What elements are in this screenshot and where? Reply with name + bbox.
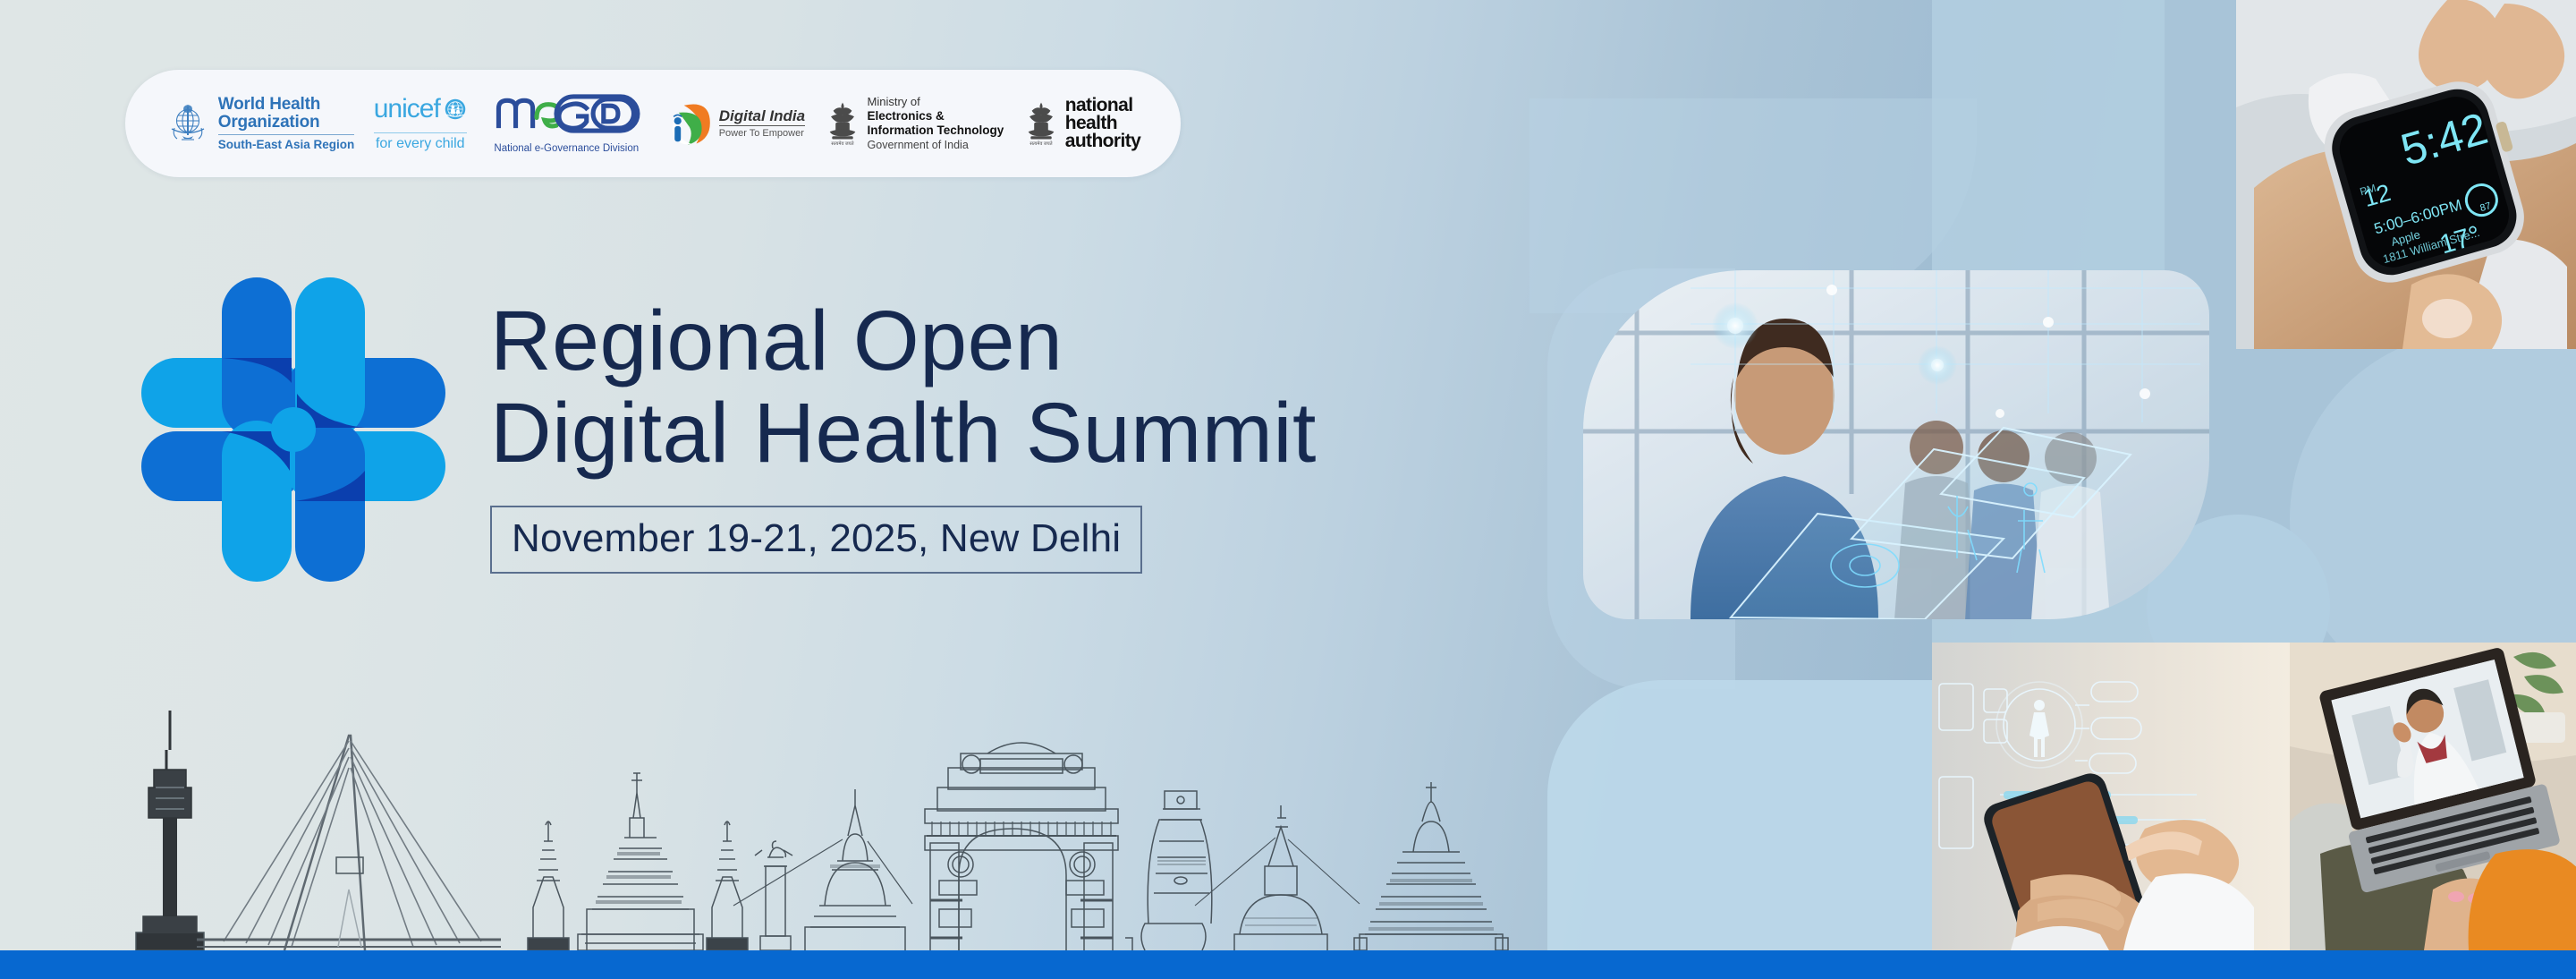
logo-world-health-organization: World Health Organization South-East Asi…: [165, 96, 355, 151]
partner-logo-strip: World Health Organization South-East Asi…: [125, 70, 1181, 177]
bottom-accent-bar: [0, 950, 2576, 979]
ashoka-emblem-icon: सत्यमेव जयते: [1023, 100, 1059, 147]
who-name-line2: Organization: [218, 114, 355, 132]
logo-digital-india: Digital India Power To Empower: [666, 101, 805, 146]
unicef-tagline: for every child: [374, 132, 467, 152]
meity-line2: Electronics &: [868, 109, 1004, 123]
summit-logo-mark-icon: [132, 268, 454, 591]
ashoka-emblem-icon: सत्यमेव जयते: [825, 100, 860, 147]
summit-title-line2: Digital Health Summit: [490, 387, 1653, 480]
monument-india-gate: [925, 743, 1118, 950]
meity-line4: Government of India: [868, 139, 1004, 152]
landmark-skyline-illustration: [80, 682, 1547, 950]
monument-qutub-minar: [1141, 791, 1212, 950]
who-emblem-icon: [165, 101, 210, 146]
negd-subtitle: National e-Governance Division: [494, 143, 639, 154]
photo-mobile-health: [1932, 643, 2290, 950]
title-block: Regional Open Digital Health Summit Nove…: [490, 295, 1653, 574]
who-region-label: South-East Asia Region: [218, 134, 355, 151]
date-venue-text: November 19-21, 2025, New Delhi: [512, 516, 1121, 560]
monument-lion-pillar: [755, 841, 792, 950]
meity-line1: Ministry of: [868, 95, 1004, 109]
summit-title-line1: Regional Open: [490, 295, 1653, 387]
monument-dagoba: [733, 789, 912, 950]
monument-thai-stupa-left: [528, 822, 569, 950]
monument-tv-tower: [136, 711, 204, 950]
monument-cable-bridge: [197, 736, 501, 950]
date-venue-box: November 19-21, 2025, New Delhi: [490, 506, 1142, 574]
unicef-globe-icon: [444, 98, 467, 121]
digital-india-mark-icon: [666, 101, 713, 146]
monument-wat-arun: [578, 773, 703, 950]
logo-unicef: unicef for every child: [374, 96, 467, 152]
photo-smartwatch: 5:42 PM 12 5:00–6:00PM Apple 1811 Willia…: [2236, 0, 2576, 349]
unicef-wordmark: unicef: [374, 96, 440, 123]
digital-india-name: Digital India: [719, 108, 805, 127]
photo-telemedicine: [2290, 643, 2576, 950]
nha-line3: authority: [1065, 132, 1140, 150]
nha-line2: health: [1065, 115, 1140, 132]
monument-boudhanath: [1195, 805, 1360, 950]
monument-thai-stupa-right: [707, 822, 748, 950]
svg-text:सत्यमेव जयते: सत्यमेव जयते: [1030, 140, 1053, 147]
logo-meity: सत्यमेव जयते Ministry of Electronics & I…: [825, 95, 1004, 152]
summit-banner: 5:42 PM 12 5:00–6:00PM Apple 1811 Willia…: [0, 0, 2576, 979]
logo-national-health-authority: सत्यमेव जयते national health authority: [1023, 97, 1140, 150]
meity-line3: Information Technology: [868, 123, 1004, 138]
negd-wordmark-icon: [486, 94, 647, 133]
logo-negd: National e-Governance Division: [486, 94, 647, 154]
svg-text:सत्यमेव जयते: सत्यमेव जयते: [831, 140, 854, 147]
nha-line1: national: [1065, 97, 1140, 115]
photo-clinician-hologram: [1583, 270, 2209, 619]
who-name-line1: World Health: [218, 96, 355, 114]
digital-india-tagline: Power To Empower: [719, 128, 805, 139]
